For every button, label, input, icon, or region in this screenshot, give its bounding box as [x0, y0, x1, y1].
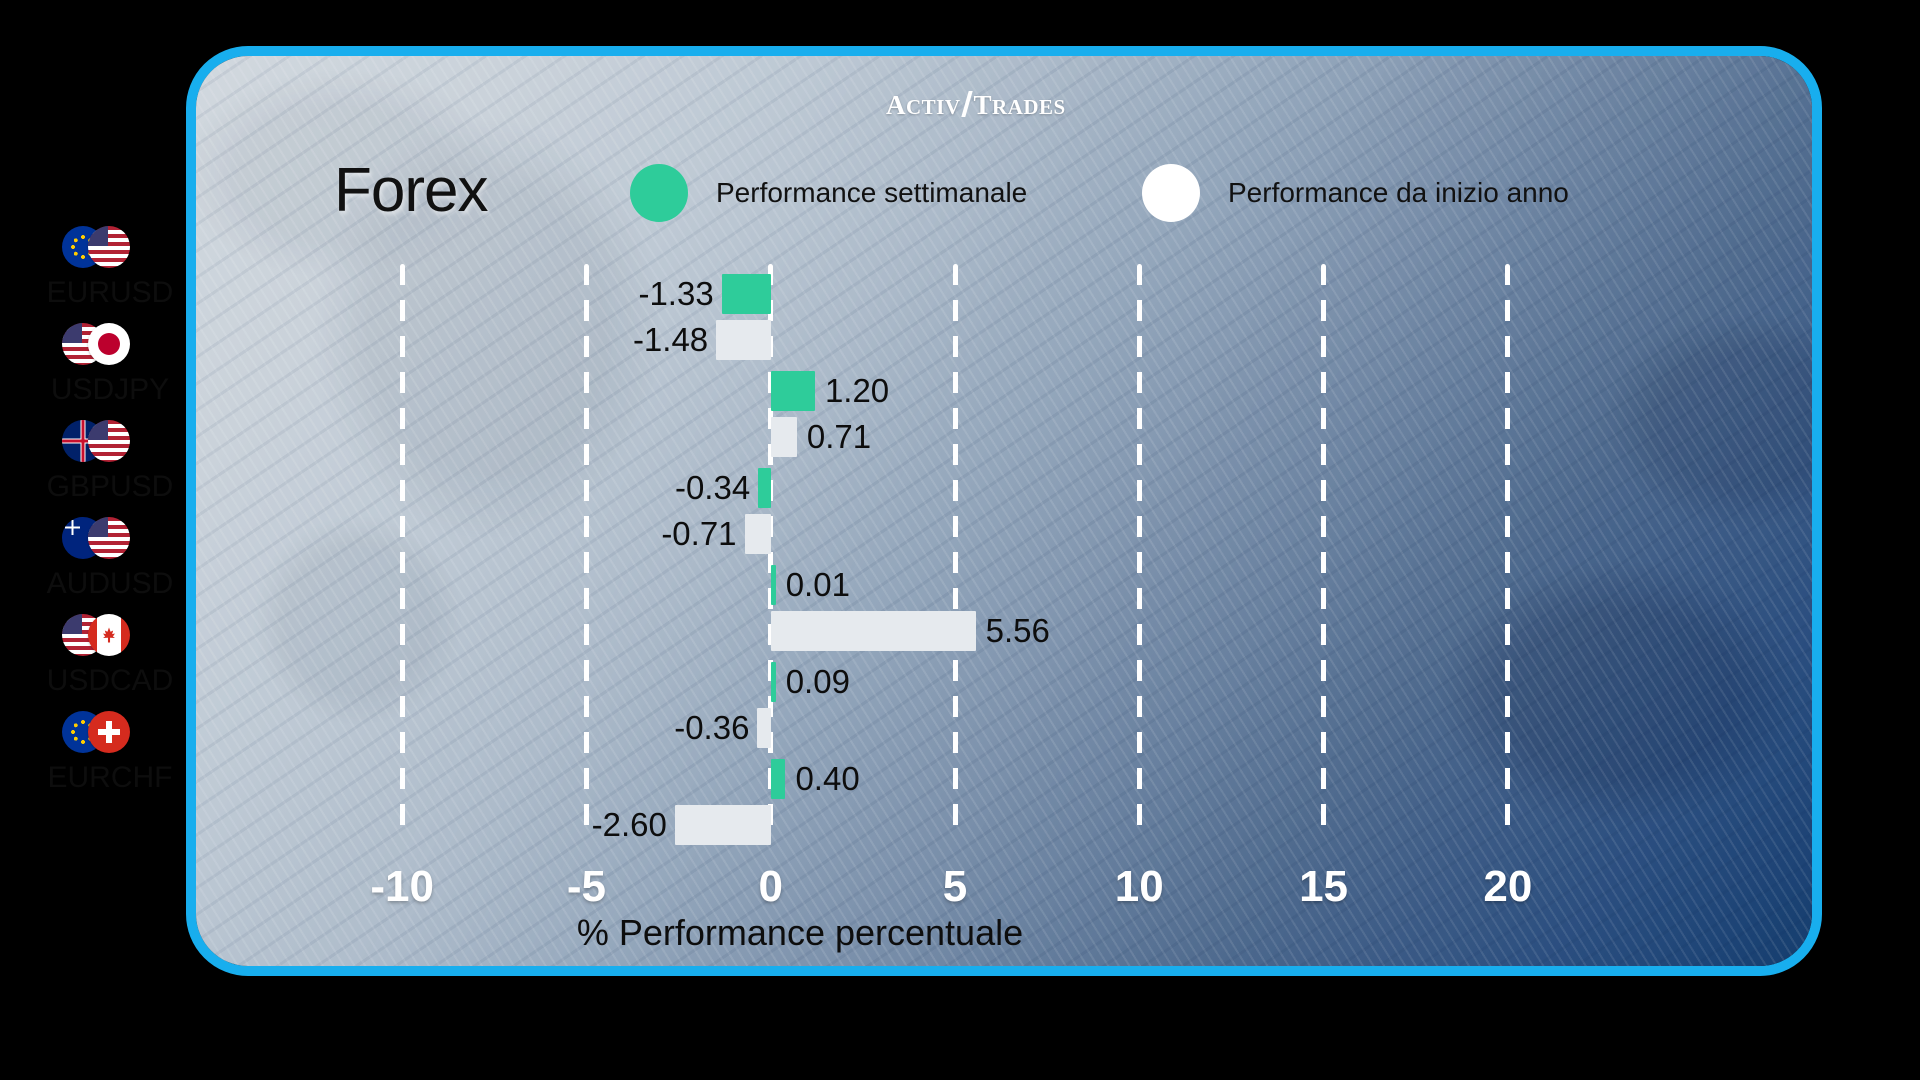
value-label-eurusd-ytd: -1.48	[633, 320, 708, 360]
gridline	[400, 264, 405, 836]
flag-pair	[10, 711, 210, 757]
gridline	[1321, 264, 1326, 836]
value-label-audusd-weekly: 0.01	[786, 565, 850, 605]
y-axis-tick-gbpusd: GBPUSD	[10, 420, 210, 504]
value-label-gbpusd-weekly: -0.34	[675, 468, 750, 508]
logo-letter-a: A	[886, 90, 906, 121]
value-label-eurchf-ytd: -2.60	[592, 805, 667, 845]
logo-slash-icon	[961, 91, 972, 117]
chart-plot-area: EURUSD-1.33-1.48USDJPY1.200.71GBPUSD-0.3…	[310, 250, 1600, 850]
bar-eurusd-weekly	[722, 274, 771, 314]
value-label-usdjpy-ytd: 0.71	[807, 417, 871, 457]
legend-swatch-weekly	[630, 164, 688, 222]
y-axis-tick-usdjpy: USDJPY	[10, 323, 210, 407]
bar-usdcad-ytd	[757, 708, 770, 748]
ch-flag-icon	[88, 711, 130, 753]
bar-gbpusd-weekly	[758, 468, 771, 508]
gridline	[1137, 264, 1142, 836]
value-label-usdcad-weekly: 0.09	[786, 662, 850, 702]
x-axis-tick-label: 10	[1059, 862, 1219, 912]
x-axis-label: % Performance percentuale	[0, 912, 1760, 954]
bar-audusd-ytd	[771, 611, 976, 651]
us-flag-icon	[88, 226, 130, 268]
flag-pair	[10, 323, 210, 369]
bar-eurchf-weekly	[771, 759, 786, 799]
us-flag-icon	[88, 420, 130, 462]
value-label-usdjpy-weekly: 1.20	[825, 371, 889, 411]
x-axis-tick-label: 5	[875, 862, 1035, 912]
y-axis-tick-eurchf: EURCHF	[10, 711, 210, 795]
pair-label: EURUSD	[10, 276, 210, 310]
page-title: Forex	[334, 155, 487, 226]
x-axis-tick-label: -5	[506, 862, 666, 912]
y-axis-tick-usdcad: USDCAD	[10, 614, 210, 698]
activtrades-logo: ACTIVTRADES	[886, 88, 1066, 121]
bar-eurusd-ytd	[716, 320, 771, 360]
pair-label: AUDUSD	[10, 567, 210, 601]
value-label-gbpusd-ytd: -0.71	[661, 514, 736, 554]
legend-label-ytd: Performance da inizio anno	[1228, 177, 1569, 209]
pair-label: USDJPY	[10, 373, 210, 407]
logo-letter-t: T	[974, 90, 993, 121]
gridline	[584, 264, 589, 836]
flag-pair	[10, 226, 210, 272]
gridline	[953, 264, 958, 836]
x-axis-tick-label: 20	[1428, 862, 1588, 912]
y-axis-tick-audusd: AUDUSD	[10, 517, 210, 601]
logo-text-rades: RADES	[992, 95, 1066, 120]
value-label-eurchf-weekly: 0.40	[795, 759, 859, 799]
bar-eurchf-ytd	[675, 805, 771, 845]
pair-label: USDCAD	[10, 664, 210, 698]
bar-usdjpy-ytd	[771, 417, 797, 457]
x-axis-tick-label: 15	[1244, 862, 1404, 912]
bar-usdjpy-weekly	[771, 371, 815, 411]
bar-audusd-weekly	[771, 565, 776, 605]
value-label-eurusd-weekly: -1.33	[638, 274, 713, 314]
ca-flag-icon	[88, 614, 130, 656]
flag-pair	[10, 517, 210, 563]
bar-gbpusd-ytd	[745, 514, 771, 554]
x-axis-tick-label: -10	[322, 862, 482, 912]
bar-usdcad-weekly	[771, 662, 776, 702]
pair-label: GBPUSD	[10, 470, 210, 504]
jp-flag-icon	[88, 323, 130, 365]
flag-pair	[10, 420, 210, 466]
legend-item-ytd: Performance da inizio anno	[1142, 164, 1569, 222]
gridline	[1505, 264, 1510, 836]
x-axis-tick-label: 0	[691, 862, 851, 912]
pair-label: EURCHF	[10, 761, 210, 795]
us-flag-icon	[88, 517, 130, 559]
legend-swatch-ytd	[1142, 164, 1200, 222]
legend-label-weekly: Performance settimanale	[716, 177, 1027, 209]
logo-text-ctiv: CTIV	[906, 95, 961, 120]
value-label-usdcad-ytd: -0.36	[674, 708, 749, 748]
legend-item-weekly: Performance settimanale	[630, 164, 1027, 222]
y-axis-tick-eurusd: EURUSD	[10, 226, 210, 310]
value-label-audusd-ytd: 5.56	[986, 611, 1050, 651]
flag-pair	[10, 614, 210, 660]
